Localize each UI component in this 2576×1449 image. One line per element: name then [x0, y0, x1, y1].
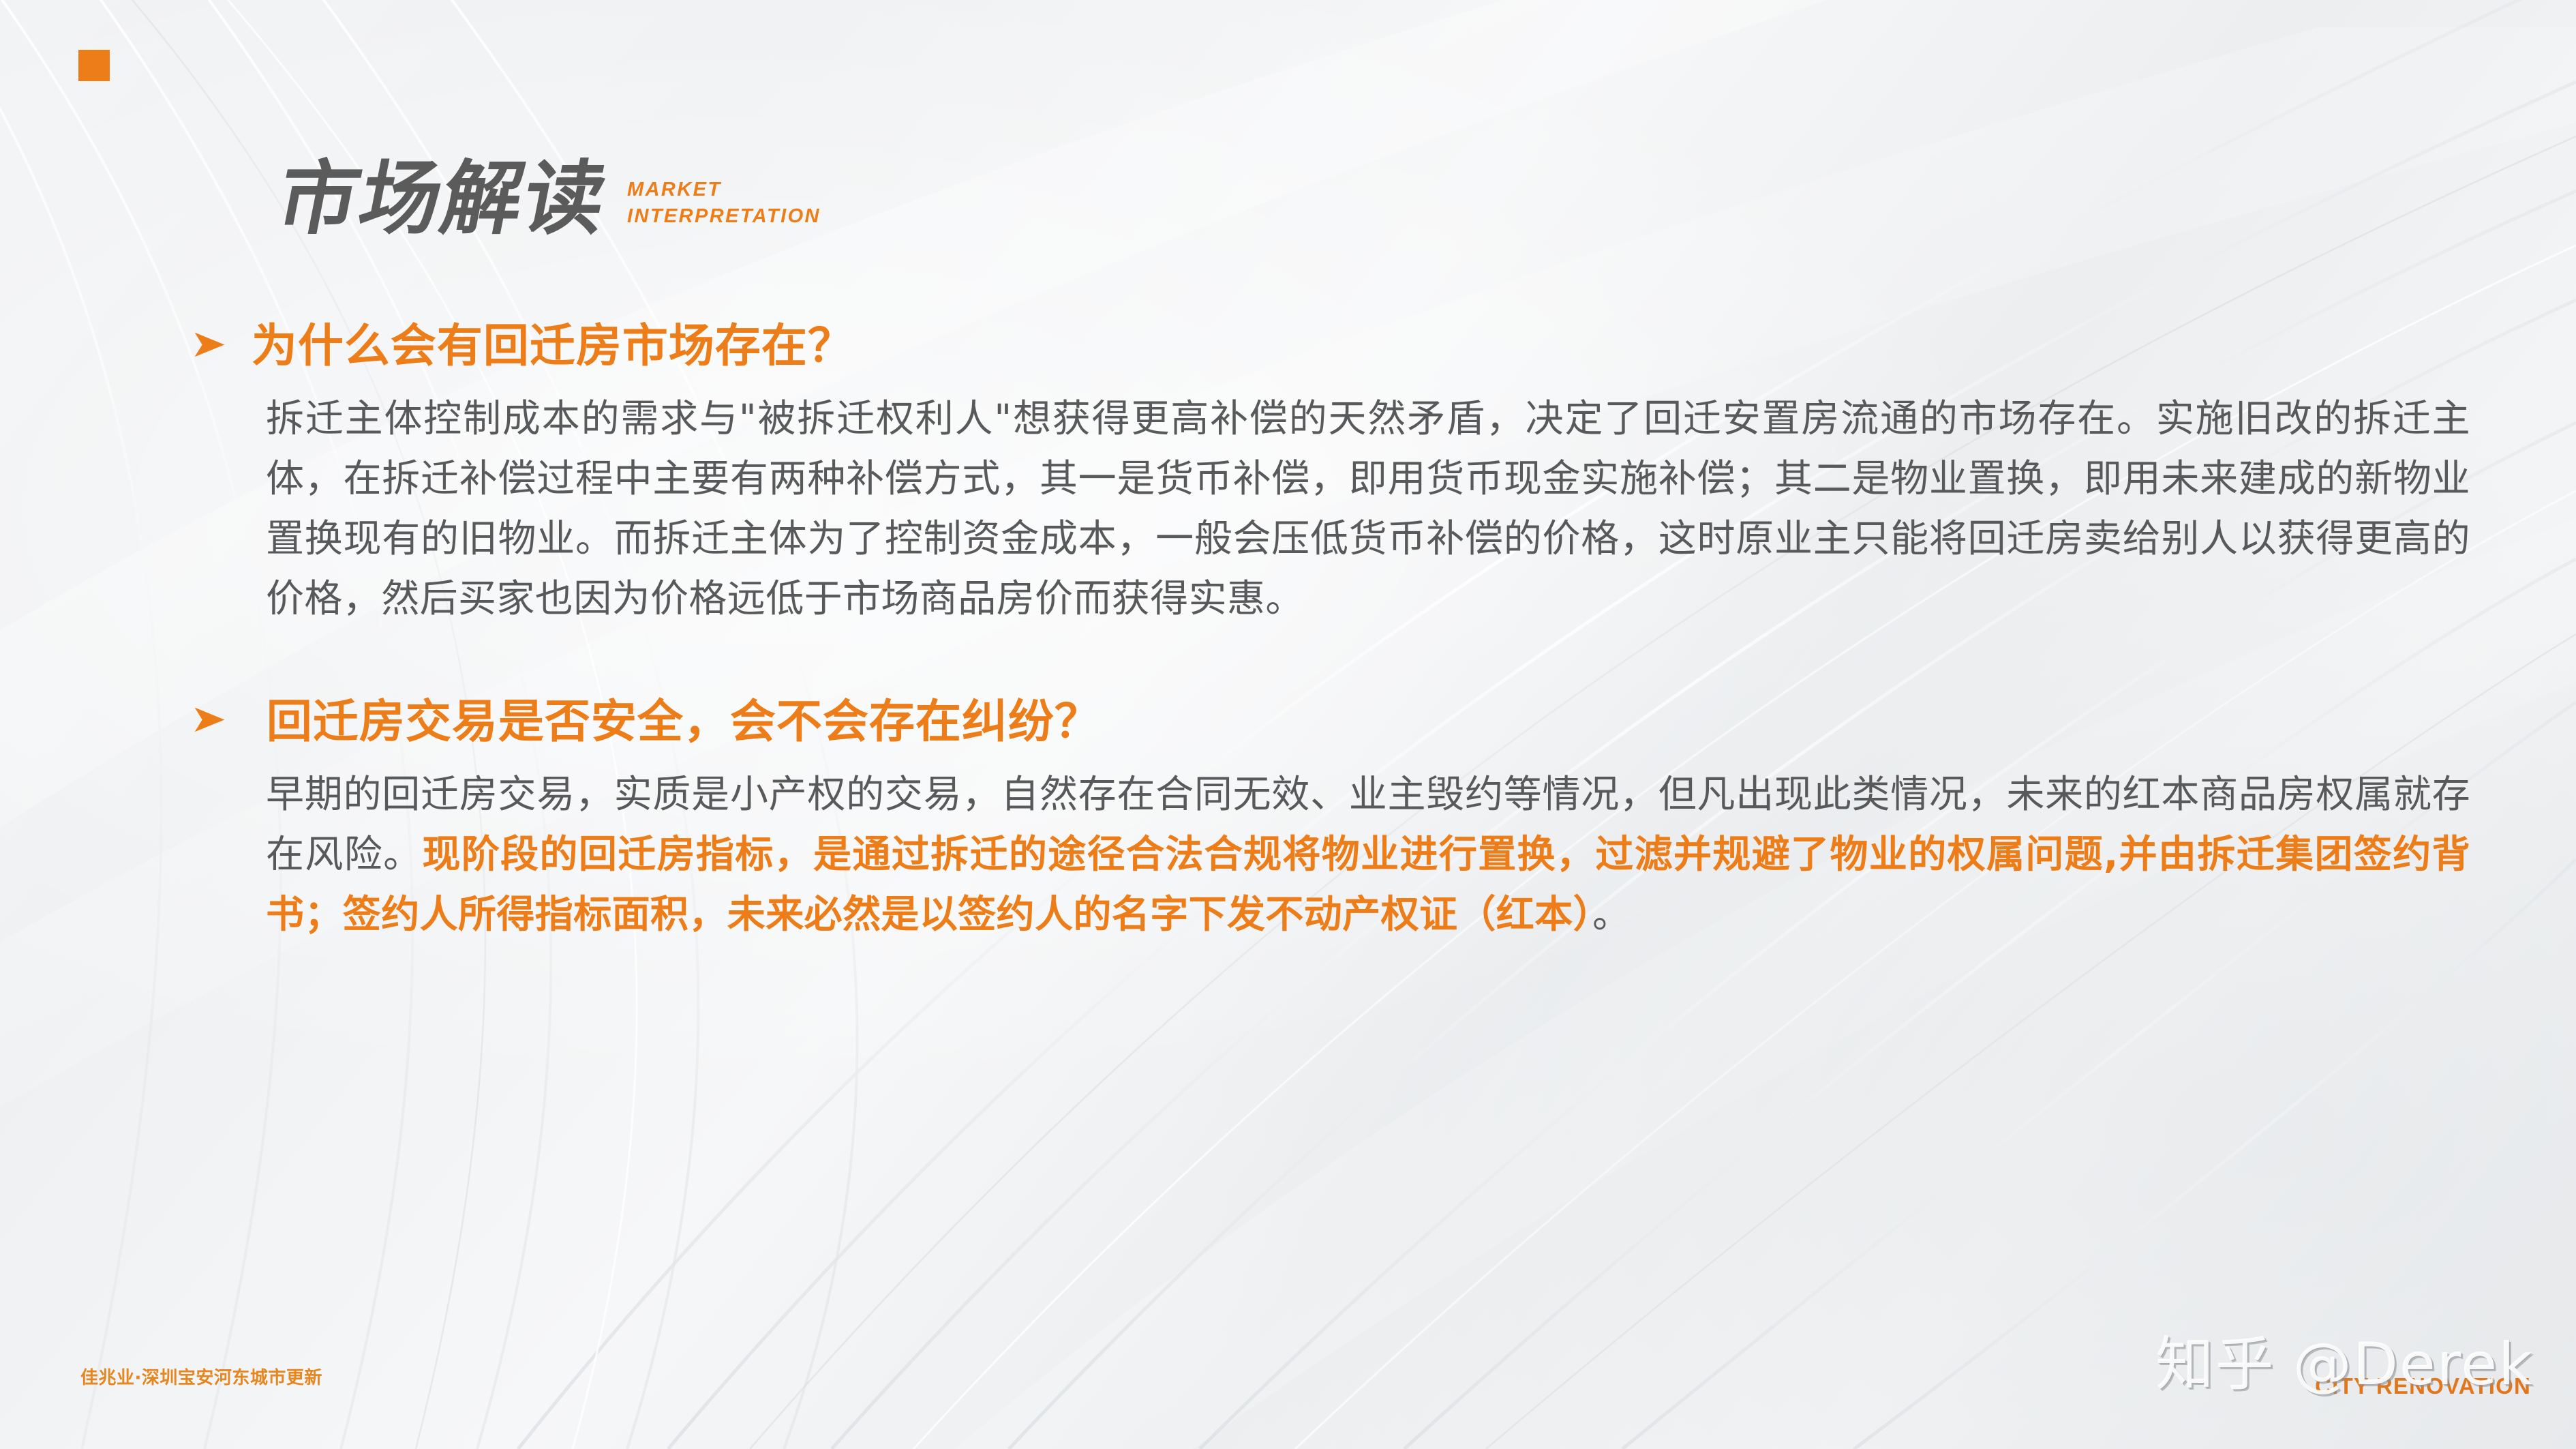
- section-1-body: 拆迁主体控制成本的需求与"被拆迁权利人"想获得更高补偿的天然矛盾，决定了回迁安置…: [0, 389, 2576, 629]
- section-transaction-safety: ➤ 回迁房交易是否安全，会不会存在纠纷？ 早期的回迁房交易，实质是小产权的交易，…: [0, 696, 2576, 945]
- slide-canvas: 市场解读 MARKET INTERPRETATION ➤ 为什么会有回迁房市场存…: [0, 0, 2576, 1449]
- watermark-site: 知乎: [2155, 1316, 2275, 1401]
- section-why-market-exists: ➤ 为什么会有回迁房市场存在？ 拆迁主体控制成本的需求与"被拆迁权利人"想获得更…: [0, 320, 2576, 629]
- section-1-heading: 为什么会有回迁房市场存在？: [252, 320, 854, 372]
- page-title-en-line2: INTERPRETATION: [627, 203, 821, 229]
- arrow-bullet-icon: ➤: [190, 700, 226, 738]
- section-2-heading-row: ➤ 回迁房交易是否安全，会不会存在纠纷？: [0, 696, 2576, 747]
- page-title: 市场解读 MARKET INTERPRETATION: [271, 158, 821, 239]
- page-title-en: MARKET INTERPRETATION: [627, 177, 821, 229]
- section-2-body-tail: 。: [1592, 893, 1631, 937]
- page-title-cn: 市场解读: [271, 158, 614, 239]
- brand-tagline: CITY RENOVATION: [2315, 1373, 2531, 1399]
- arrow-bullet-icon: ➤: [190, 325, 226, 363]
- section-1-heading-row: ➤ 为什么会有回迁房市场存在？: [0, 320, 2576, 372]
- footer-project-label: 佳兆业·深圳宝安河东城市更新: [80, 1364, 322, 1389]
- section-2-heading: 回迁房交易是否安全，会不会存在纠纷？: [252, 696, 1101, 747]
- page-title-en-line1: MARKET: [627, 177, 821, 203]
- section-2-body: 早期的回迁房交易，实质是小产权的交易，自然存在合同无效、业主毁约等情况，但凡出现…: [0, 765, 2576, 945]
- section-2-body-highlight: 现阶段的回迁房指标，是通过拆迁的途径合法合规将物业进行置换，过滤并规避了物业的权…: [266, 833, 2470, 937]
- content-area: ➤ 为什么会有回迁房市场存在？ 拆迁主体控制成本的需求与"被拆迁权利人"想获得更…: [0, 320, 2576, 944]
- orange-square-marker: [78, 50, 110, 81]
